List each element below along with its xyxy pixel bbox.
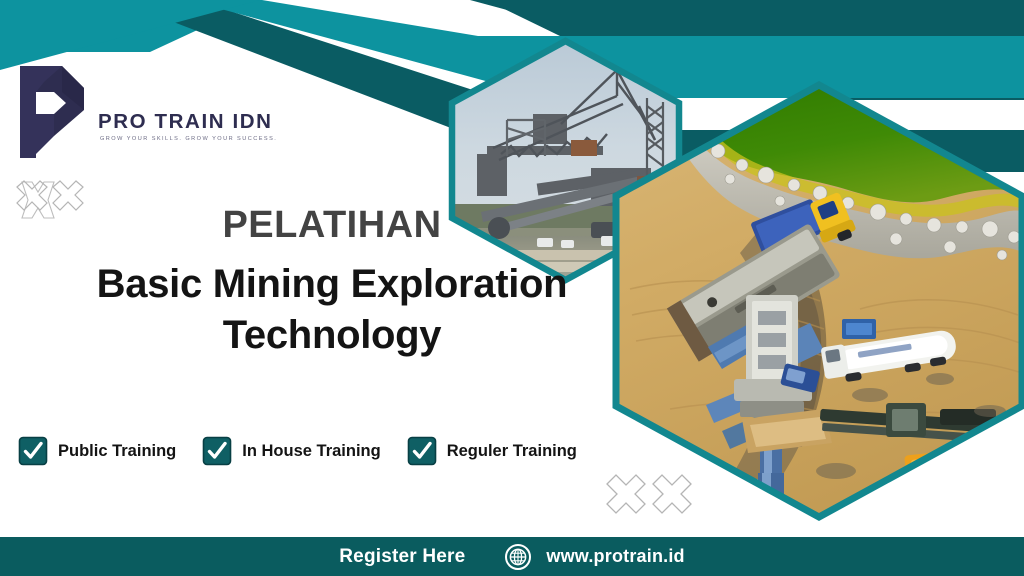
page-kicker: PELATIHAN xyxy=(0,206,664,246)
training-option-label: Public Training xyxy=(58,442,176,461)
training-option-public[interactable]: Public Training xyxy=(18,436,176,466)
footer-content: Register Here www.protrain.id xyxy=(339,544,685,570)
training-option-in-house[interactable]: In House Training xyxy=(202,436,380,466)
training-option-label: Reguler Training xyxy=(447,442,577,461)
protrain-arrow-logo-icon xyxy=(14,62,92,162)
brand-logo[interactable]: PRO TRAIN IDN GROW YOUR SKILLS. GROW YOU… xyxy=(14,62,229,162)
checkbox-checked-icon[interactable] xyxy=(202,436,232,466)
footer-bar: Register Here www.protrain.id xyxy=(0,537,1024,576)
brand-tagline: GROW YOUR SKILLS. GROW YOUR SUCCESS. xyxy=(100,136,277,142)
headline-block: PELATIHAN Basic Mining Exploration Techn… xyxy=(0,206,664,360)
training-option-reguler[interactable]: Reguler Training xyxy=(407,436,577,466)
brand-name: PRO TRAIN IDN xyxy=(98,110,273,134)
promo-poster: PRO TRAIN IDN GROW YOUR SKILLS. GROW YOU… xyxy=(0,0,1024,576)
checkbox-checked-icon[interactable] xyxy=(18,436,48,466)
checkbox-checked-icon[interactable] xyxy=(407,436,437,466)
training-option-label: In House Training xyxy=(242,442,380,461)
register-here-cta[interactable]: Register Here xyxy=(339,546,465,568)
hex-image-aerial-quarry xyxy=(610,79,1024,523)
page-title-line-2: Technology xyxy=(0,310,664,361)
training-options-row: Public Training In House Training Regule… xyxy=(18,436,577,466)
page-title-line-1: Basic Mining Exploration xyxy=(0,259,664,310)
website-url[interactable]: www.protrain.id xyxy=(546,546,684,567)
page-title: Basic Mining Exploration Technology xyxy=(0,259,664,361)
globe-icon xyxy=(505,544,531,570)
